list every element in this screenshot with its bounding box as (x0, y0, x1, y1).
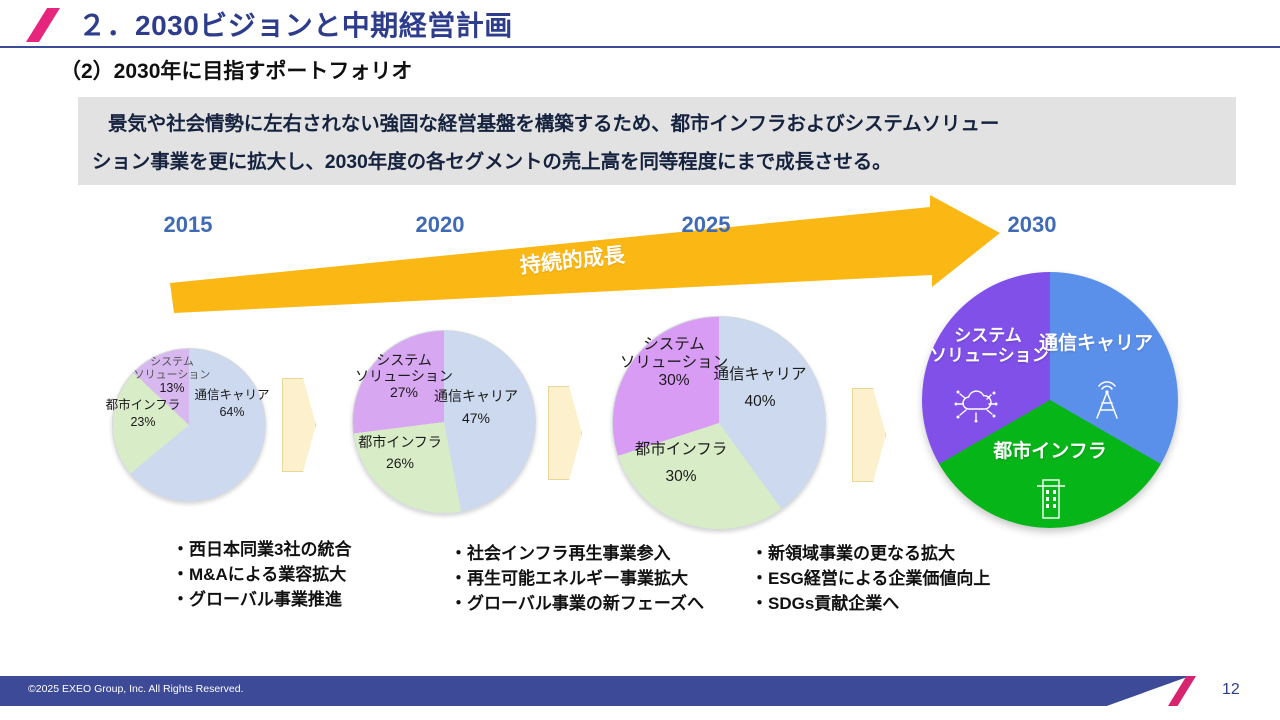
pie-2020-infra-label: 都市インフラ 26% (348, 434, 452, 471)
building-icon (1031, 472, 1069, 520)
section-subtitle: （2）2030年に目指すポートフォリオ (60, 55, 412, 85)
bullet-item: ・西日本同業3社の統合 (172, 537, 351, 562)
transition-chevron-3-icon (852, 388, 886, 482)
statement-line-1: 景気や社会情勢に左右されない強固な経営基盤を構築するため、都市インフラおよびシス… (92, 105, 1222, 143)
header-divider (0, 46, 1280, 48)
slide-header: ２．2030ビジョンと中期経営計画 (0, 0, 1280, 48)
bullet-item: ・M&Aによる業容拡大 (172, 562, 351, 587)
bullet-item: ・社会インフラ再生事業参入 (450, 541, 704, 566)
bullet-item: ・SDGs貢献企業へ (751, 591, 990, 616)
year-label-2015: 2015 (128, 212, 248, 238)
transition-chevron-1-icon (282, 378, 316, 472)
pie-2030-infra-label: 都市インフラ (980, 441, 1120, 464)
bullet-item: ・グローバル事業推進 (172, 587, 351, 612)
footer-copyright: ©2025 EXEO Group, Inc. All Rights Reserv… (28, 683, 244, 695)
year-label-2030: 2030 (972, 212, 1092, 238)
pie-2015-infra-label: 都市インフラ 23% (100, 398, 186, 430)
pie-2030-system-label: システム ソリューション (930, 326, 1046, 367)
brand-slash-icon (26, 8, 60, 42)
statement-line-2: ション事業を更に拡大し、2030年度の各セグメントの売上高を同等程度にまで成長さ… (92, 143, 1222, 181)
page-title: ２．2030ビジョンと中期経営計画 (78, 4, 513, 44)
bullets-2020: ・社会インフラ再生事業参入 ・再生可能エネルギー事業拡大 ・グローバル事業の新フ… (450, 541, 704, 616)
year-label-2025: 2025 (646, 212, 766, 238)
bullet-item: ・ESG経営による企業価値向上 (751, 566, 990, 591)
pie-2020-system-label: システム ソリューション 27% (350, 352, 458, 400)
bullets-2025: ・新領域事業の更なる拡大 ・ESG経営による企業価値向上 ・SDGs貢献企業へ (751, 541, 990, 616)
cloud-network-icon (951, 382, 1001, 426)
antenna-tower-icon (1085, 378, 1129, 422)
bullet-item: ・新領域事業の更なる拡大 (751, 541, 990, 566)
pie-2015-system-label: システム ソリューション 13% (126, 356, 218, 396)
footer-page-number: 12 (1222, 681, 1240, 699)
bullets-2015: ・西日本同業3社の統合 ・M&Aによる業容拡大 ・グローバル事業推進 (172, 537, 351, 612)
pie-2025-system-label: システム ソリューション 30% (614, 336, 734, 389)
pie-2025-infra-label: 都市インフラ 30% (624, 441, 738, 486)
bullet-item: ・グローバル事業の新フェーズへ (450, 591, 704, 616)
transition-chevron-2-icon (548, 386, 582, 480)
year-label-2020: 2020 (380, 212, 500, 238)
statement-box: 景気や社会情勢に左右されない強固な経営基盤を構築するため、都市インフラおよびシス… (78, 97, 1236, 185)
bullet-item: ・再生可能エネルギー事業拡大 (450, 566, 704, 591)
